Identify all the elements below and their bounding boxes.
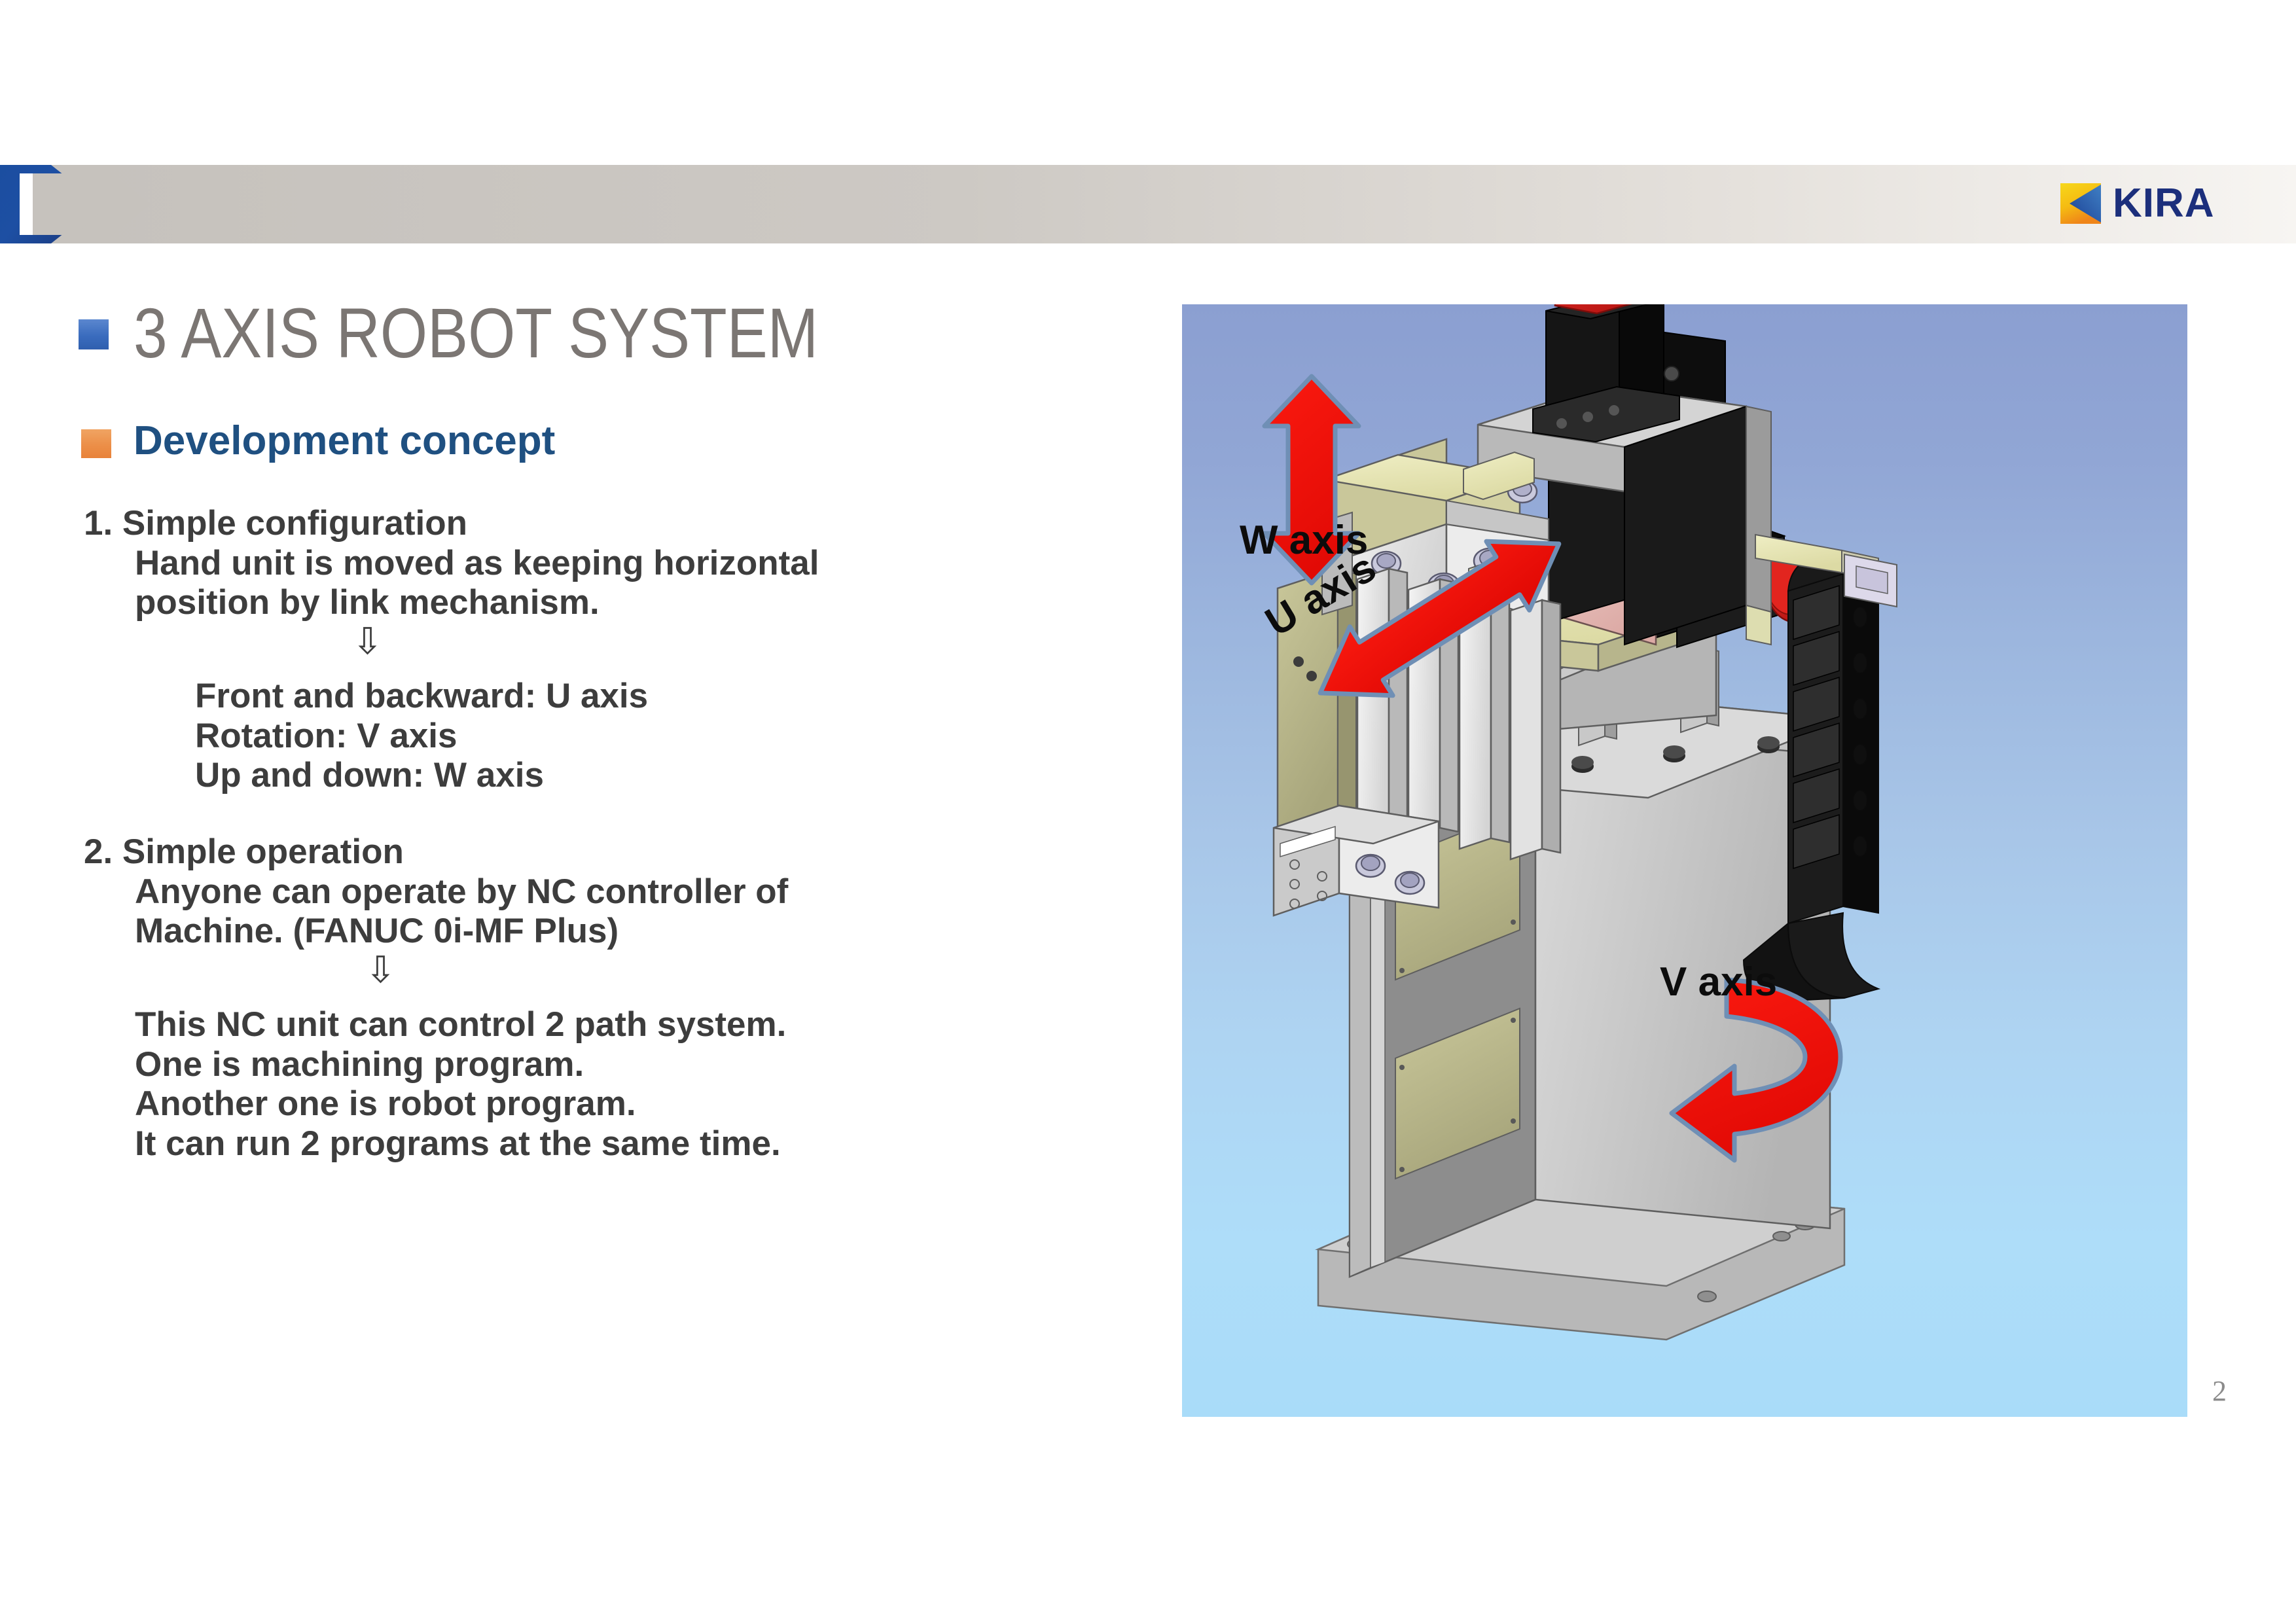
body-line-6: Rotation: V axis [84,717,1157,757]
body-line-2: Hand unit is moved as keeping horizontal [84,544,1157,584]
header-banner [0,165,2296,243]
header-gradient-bar [79,165,2296,243]
body-line-12: This NC unit can control 2 path system. [84,1005,1157,1045]
subtitle-row: Development concept [81,419,555,463]
subtitle: Development concept [134,419,555,463]
body-text-block: 1. Simple configuration Hand unit is mov… [84,504,1157,1164]
body-line-15: It can run 2 programs at the same time. [84,1124,1157,1164]
down-arrow-glyph-1: ⇩ [84,623,1157,660]
left-chevron-icon [0,163,151,245]
v-axis-label: V axis [1660,962,1777,1003]
kira-wordmark: KIRA [2113,183,2215,224]
spacer [84,988,1157,1005]
page-number: 2 [2212,1374,2227,1408]
body-line-5: Front and backward: U axis [84,677,1157,717]
kira-logo: KIRA [2060,178,2215,229]
body-line-9: Anyone can operate by NC controller of [84,872,1157,912]
body-line-1: 1. Simple configuration [84,504,1157,544]
spacer [84,660,1157,677]
robot-illustration [1182,304,2187,1417]
page-title: 3 AXIS ROBOT SYSTEM [134,296,818,370]
title-bullet-square-icon [79,319,109,349]
body-line-14: Another one is robot program. [84,1084,1157,1124]
body-line-8: 2. Simple operation [84,832,1157,872]
body-line-13: One is machining program. [84,1045,1157,1085]
robot-cad-figure: W axis U axis V axis [1182,304,2187,1417]
kira-mark-icon [2060,183,2101,224]
subtitle-bullet-square-icon [81,429,111,458]
page-title-row: 3 AXIS ROBOT SYSTEM [79,296,929,370]
body-line-10: Machine. (FANUC 0i-MF Plus) [84,912,1157,952]
spacer [84,796,1157,832]
down-arrow-glyph-2: ⇩ [84,952,1157,988]
body-line-7: Up and down: W axis [84,756,1157,796]
body-line-3: position by link mechanism. [84,583,1157,623]
